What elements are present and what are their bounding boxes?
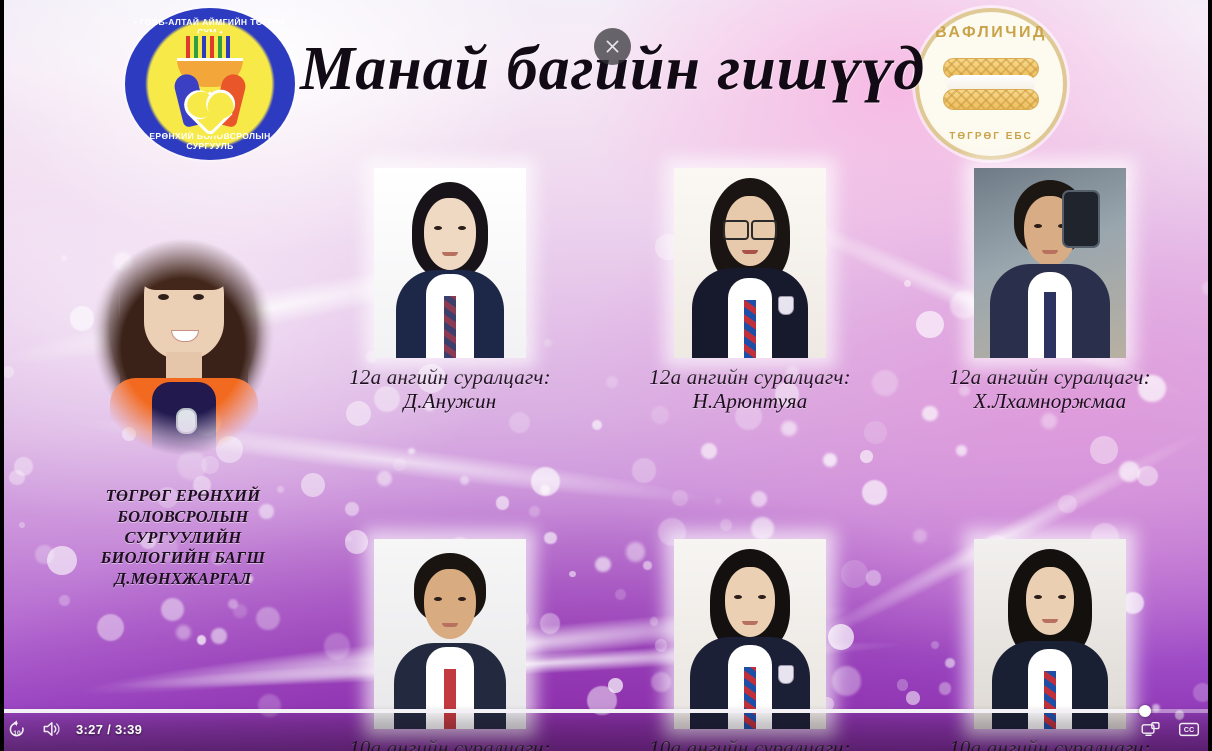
student-card: 12а ангийн суралцагч: Д.Анужин: [300, 168, 600, 414]
student-card: 12а ангийн суралцагч: Х.Лхамноржмаа: [900, 168, 1200, 414]
student-photo: [974, 539, 1126, 729]
closed-captions-icon: CC: [1178, 719, 1200, 739]
bokeh-dot: [9, 470, 25, 486]
student-mouth: [442, 623, 458, 627]
student-tie: [444, 296, 456, 358]
student-role: 12а ангийн суралцагч:: [649, 365, 851, 389]
student-mouth: [742, 621, 758, 625]
progress-played: [0, 709, 1145, 713]
student-caption: 12а ангийн суралцагч: Д.Анужин: [300, 365, 600, 414]
student-crest-badge: [778, 296, 794, 315]
frame-edge-right: [1208, 0, 1212, 751]
bokeh-dot: [97, 614, 124, 641]
teacher-fringe: [138, 246, 230, 290]
student-tie: [1044, 292, 1056, 358]
phone-icon: [1062, 190, 1100, 248]
student-photo: [674, 539, 826, 729]
video-player-viewport: • ГОВЬ-АЛТАЙ АЙМГИЙН ТӨГРӨГ СУМ • ЕРӨНХИ…: [0, 0, 1212, 751]
student-mouth: [742, 250, 758, 254]
frame-edge-left: [0, 0, 4, 751]
volume-on-icon: [41, 719, 61, 739]
picture-in-picture-icon: [1141, 719, 1161, 739]
bokeh-dot: [59, 595, 70, 606]
volume-button[interactable]: [34, 715, 68, 743]
student-face: [725, 567, 775, 637]
student-photo: [374, 168, 526, 358]
student-crest-badge: [778, 665, 794, 684]
student-eye-left: [434, 226, 442, 230]
bokeh-dot: [233, 604, 247, 618]
heart-icon: [187, 91, 232, 136]
student-photo: [674, 168, 826, 358]
teacher-necklace: [176, 408, 197, 434]
teacher-caption: ТӨГРӨГ ЕРӨНХИЙ БОЛОВСРОЛЫН СУРГУУЛИЙН БИ…: [58, 486, 308, 590]
teacher-eye-left: [158, 294, 169, 300]
player-controls: 10 3:27 / 3:39: [0, 705, 1212, 751]
student-mouth: [1042, 619, 1058, 623]
student-role: 12а ангийн суралцагч:: [349, 365, 551, 389]
replay-10-button[interactable]: 10: [0, 715, 34, 743]
close-icon: [604, 38, 621, 55]
student-name: Д.Анужин: [300, 389, 600, 413]
student-tie: [744, 300, 756, 358]
book-rays-icon: [186, 36, 234, 58]
student-caption: 12а ангийн суралцагч: Н.Арюнтуяа: [600, 365, 900, 414]
school-logo: • ГОВЬ-АЛТАЙ АЙМГИЙН ТӨГРӨГ СУМ • ЕРӨНХИ…: [125, 8, 295, 160]
picture-in-picture-button[interactable]: [1134, 715, 1168, 743]
captions-button[interactable]: CC: [1172, 715, 1206, 743]
student-eye-left: [1034, 595, 1042, 599]
bokeh-dot: [211, 628, 227, 644]
teacher-eye-right: [193, 294, 204, 300]
time-display: 3:27 / 3:39: [76, 722, 142, 737]
student-role: 12а ангийн суралцагч:: [949, 365, 1151, 389]
student-name: Х.Лхамноржмаа: [900, 389, 1200, 413]
replay-10-icon: 10: [7, 719, 27, 739]
student-row-top: 12а ангийн суралцагч: Д.Анужин: [300, 168, 1200, 414]
controls-left-group: 10 3:27 / 3:39: [0, 715, 142, 743]
bokeh-dot: [2, 366, 14, 378]
student-card: 12а ангийн суралцагч: Н.Арюнтуяа: [600, 168, 900, 414]
waffle-sandwich-icon: [943, 58, 1039, 110]
student-mouth: [1042, 250, 1058, 254]
bokeh-dot: [35, 545, 54, 564]
bokeh-dot: [14, 457, 33, 476]
team-logo: ВАФЛИЧИД ТӨГРӨГ ЕБС: [915, 8, 1067, 160]
waffle-bottom: [943, 89, 1039, 110]
teacher-caption-line-4: Д.МӨНХЖАРГАЛ: [115, 569, 252, 588]
student-face: [1026, 567, 1074, 635]
school-logo-inner: [158, 32, 262, 136]
teacher-caption-line-3: БИОЛОГИЙН БАГШ: [101, 548, 265, 567]
student-photo: [374, 539, 526, 729]
student-eye-right: [458, 226, 466, 230]
teacher-caption-line-2: БОЛОВСРОЛЫН СУРГУУЛИЙН: [117, 507, 248, 547]
student-eye-left: [1034, 224, 1042, 228]
presentation-slide: • ГОВЬ-АЛТАЙ АЙМГИЙН ТӨГРӨГ СУМ • ЕРӨНХИ…: [0, 0, 1212, 751]
bokeh-dot: [176, 625, 191, 640]
svg-text:10: 10: [13, 730, 21, 737]
student-grid: 12а ангийн суралцагч: Д.Анужин: [300, 168, 1200, 751]
close-button[interactable]: [594, 28, 631, 65]
teacher-caption-line-1: ТӨГРӨГ ЕРӨНХИЙ: [106, 486, 261, 505]
teacher-portrait: [58, 212, 308, 482]
svg-text:CC: CC: [1184, 725, 1195, 734]
student-face: [424, 198, 476, 270]
team-logo-top-text: ВАФЛИЧИД: [915, 24, 1067, 42]
student-eye-right: [458, 597, 466, 601]
student-mouth: [442, 252, 458, 256]
team-logo-bottom-text: ТӨГРӨГ ЕБС: [915, 131, 1067, 142]
student-glasses: [723, 220, 777, 236]
student-face: [424, 569, 476, 639]
bokeh-dot: [19, 522, 25, 528]
student-photo: [974, 168, 1126, 358]
teacher-card: ТӨГРӨГ ЕРӨНХИЙ БОЛОВСРОЛЫН СУРГУУЛИЙН БИ…: [58, 212, 308, 590]
bokeh-dot: [256, 607, 279, 630]
progress-bar[interactable]: [0, 709, 1212, 713]
bokeh-dot: [197, 635, 207, 645]
student-eye-left: [734, 595, 742, 599]
student-name: Н.Арюнтуяа: [600, 389, 900, 413]
student-eye-right: [758, 595, 766, 599]
student-eye-left: [434, 597, 442, 601]
bokeh-dot: [228, 599, 238, 609]
controls-right-group: CC: [1134, 715, 1206, 743]
student-caption: 12а ангийн суралцагч: Х.Лхамноржмаа: [900, 365, 1200, 414]
bokeh-dot: [161, 598, 184, 621]
student-eye-right: [1058, 595, 1066, 599]
